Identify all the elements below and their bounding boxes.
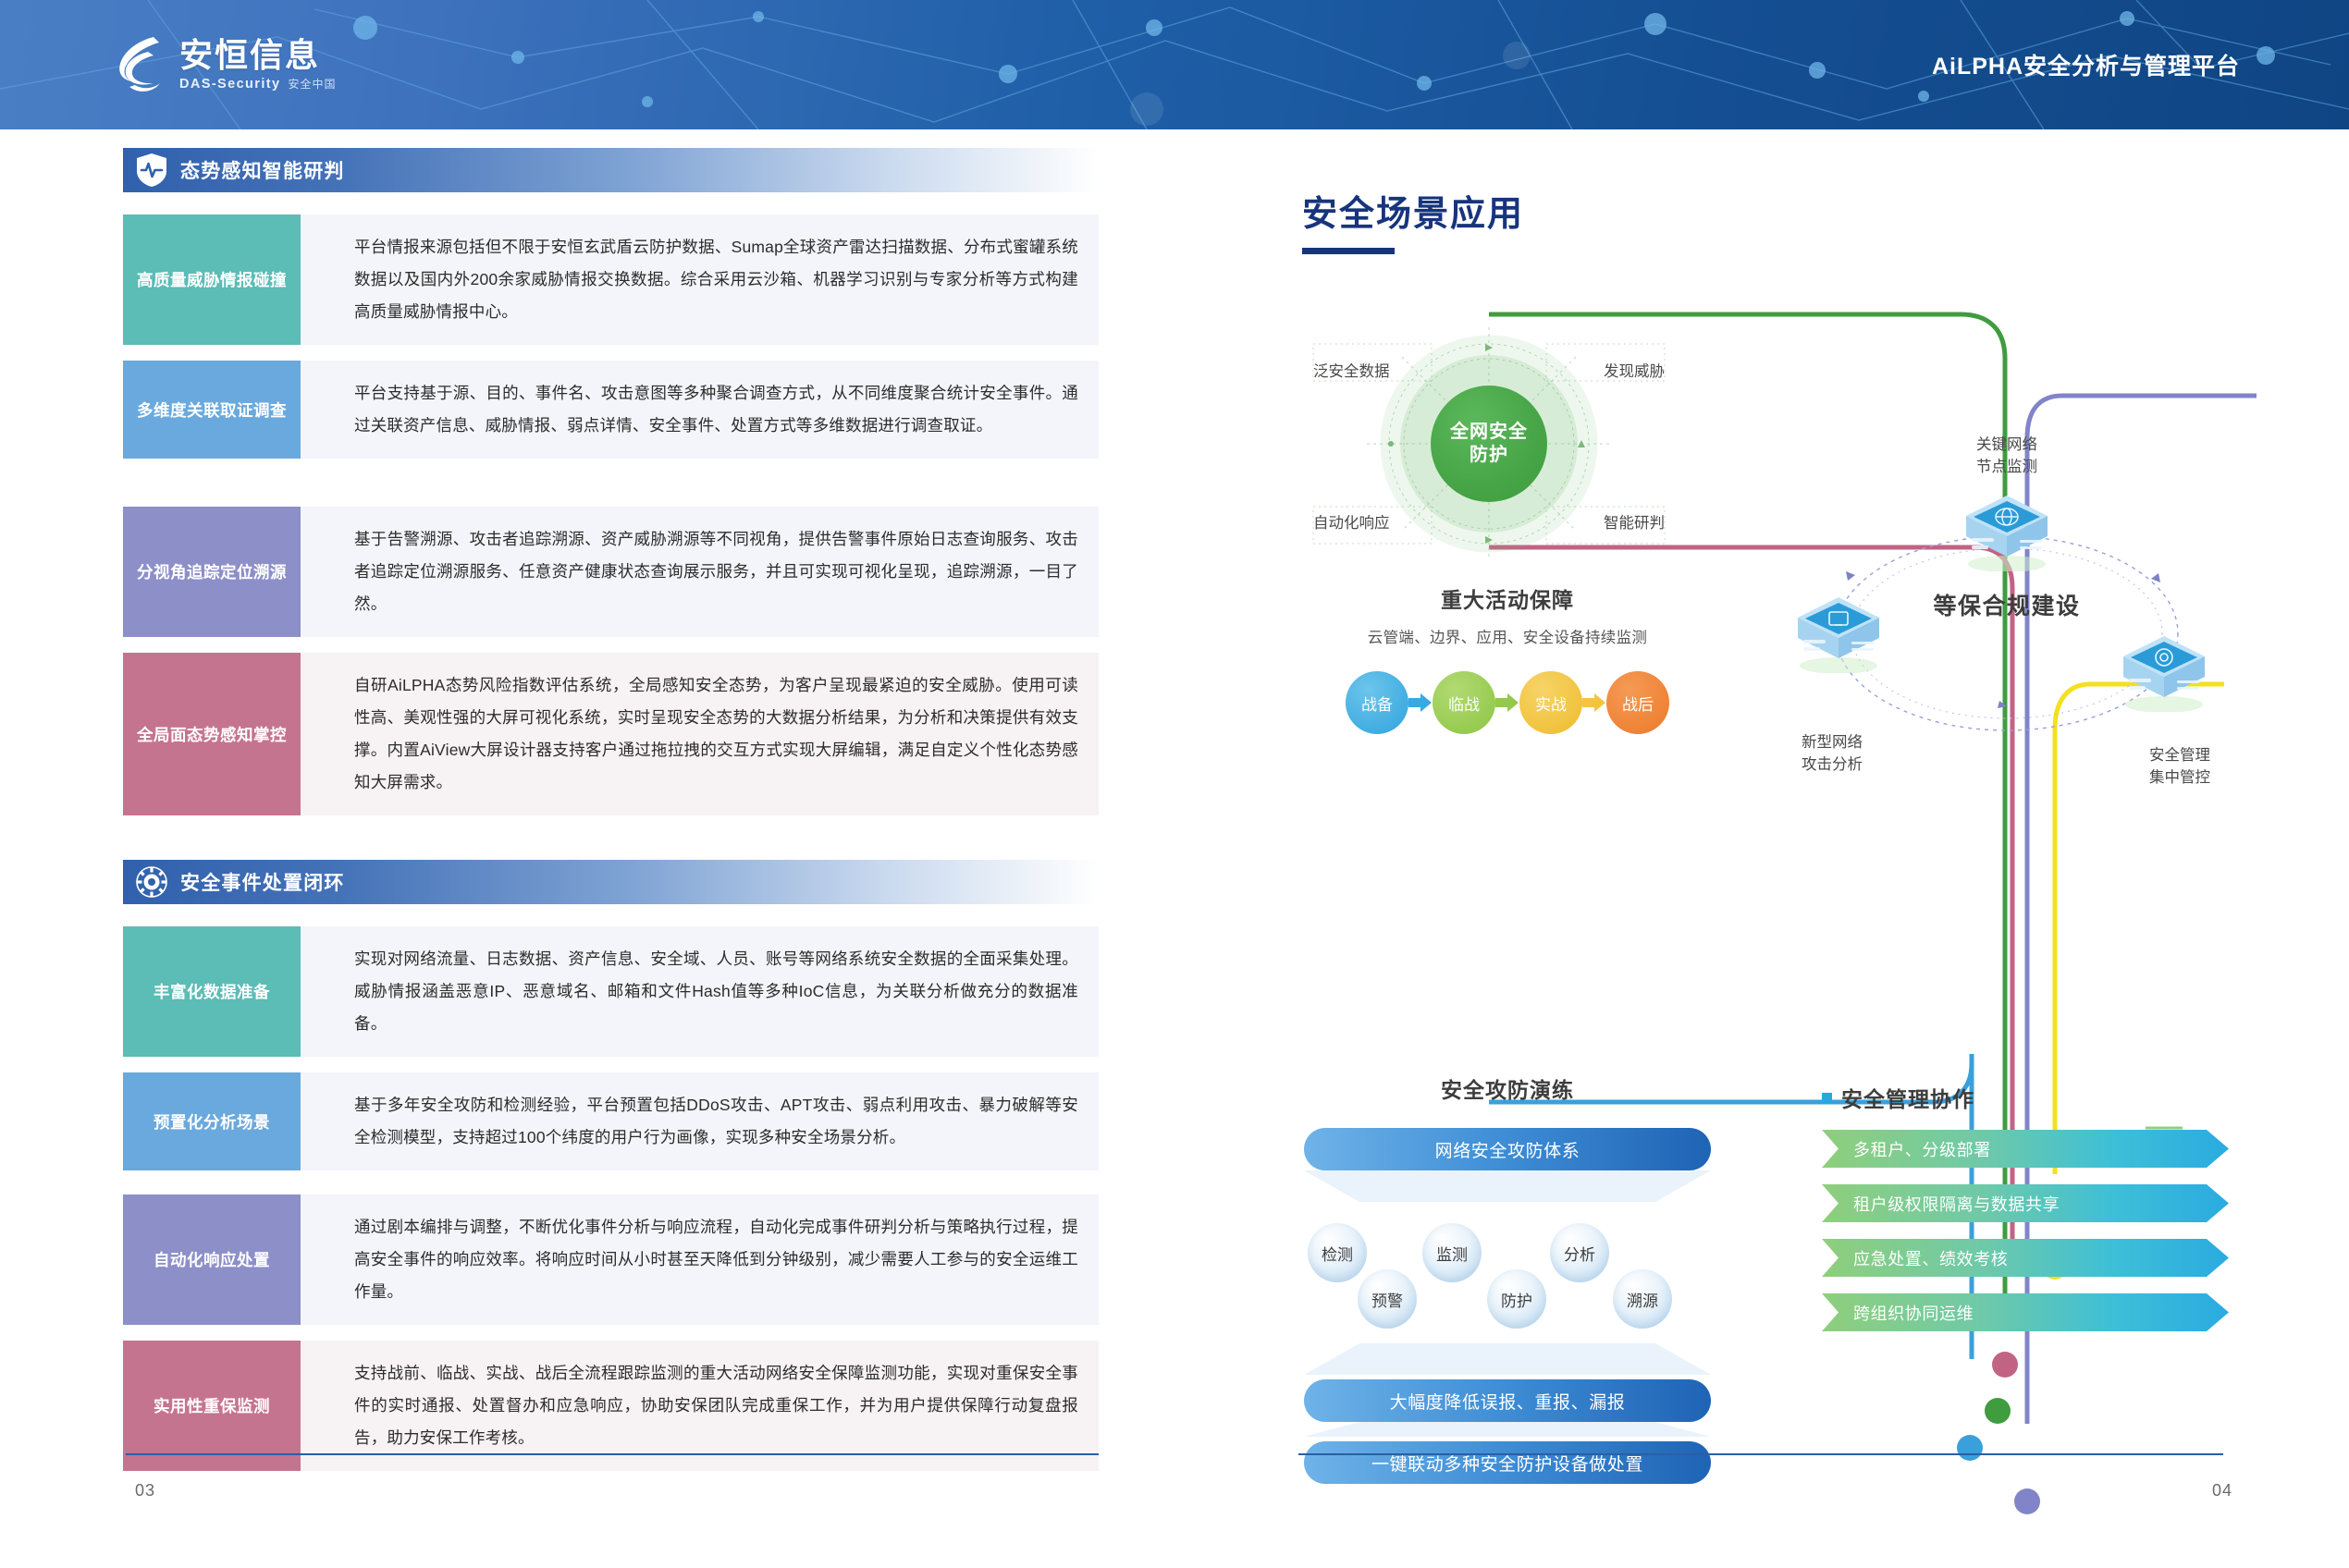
- page-header: 安恒信息 DAS-Security 安全中国 AiLPHA安全分析与管理平台: [0, 0, 2349, 129]
- arrow-right-icon: [1495, 692, 1519, 713]
- stage-circle: 临战: [1433, 671, 1495, 734]
- feature-description: 支持战前、临战、实战、战后全流程跟踪监测的重大活动网络安全保障监测功能，实现对重…: [354, 1357, 1078, 1454]
- stage-circle: 实战: [1519, 671, 1582, 734]
- drill-bubble: 监测: [1422, 1223, 1482, 1282]
- left-page: 态势感知智能研判 高质量威胁情报碰撞 平台情报来源包括但不限于安恒玄武盾云防护数…: [0, 129, 1174, 1568]
- drill-title: 安全攻防演练: [1304, 1072, 1711, 1104]
- collaboration-header: 安全管理协作: [1822, 1082, 2229, 1113]
- feature-description: 平台支持基于源、目的、事件名、攻击意图等多种聚合调查方式，从不同维度聚合统计安全…: [354, 377, 1078, 442]
- circle-label-bottom-left: 自动化响应: [1313, 510, 1390, 533]
- compliance-label-bl-line1: 新型网络: [1802, 732, 1863, 754]
- feature-tag-label: 预置化分析场景: [154, 1110, 270, 1133]
- right-page: 安全场景应用: [1174, 129, 2349, 1568]
- compliance-block: 关键网络 节点监测: [1785, 435, 2229, 786]
- drill-bubbles: 检测 预警 监测 防护 分析 溯源: [1304, 1223, 1711, 1343]
- compliance-label-br-line1: 安全管理: [2149, 745, 2210, 767]
- feature-tag-label: 全局面态势感知掌控: [137, 723, 287, 746]
- feature-tag: 预置化分析场景: [123, 1072, 301, 1170]
- core-circle: 全网安全 防护: [1431, 386, 1547, 502]
- collaboration-title: 安全管理协作: [1841, 1082, 1974, 1113]
- feature-tag: 自动化响应处置: [123, 1194, 301, 1325]
- feature-row: 自动化响应处置 通过剧本编排与调整，不断优化事件分析与响应流程，自动化完成事件研…: [123, 1194, 1099, 1325]
- section-banner-incident-closed-loop: 安全事件处置闭环: [123, 860, 1099, 904]
- major-activity-title: 重大活动保障: [1304, 582, 1711, 614]
- major-activity-block: 重大活动保障 云管端、边界、应用、安全设备持续监测 战备 临战 实战: [1304, 582, 1711, 767]
- compliance-label-top-line1: 关键网络: [1976, 435, 2037, 457]
- core-label-line1: 全网安全: [1450, 421, 1528, 444]
- feature-body: 平台支持基于源、目的、事件名、攻击意图等多种聚合调查方式，从不同维度聚合统计安全…: [301, 361, 1099, 459]
- collaboration-item: 应急处置、绩效考核: [1822, 1239, 2229, 1277]
- drill-bubble-label: 预警: [1371, 1288, 1403, 1311]
- monitor-server-icon: [1794, 594, 1883, 673]
- stage-label: 战后: [1622, 692, 1654, 715]
- drill-bubble: 检测: [1308, 1223, 1367, 1282]
- feature-row: 全局面态势感知掌控 自研AiLPHA态势风险指数评估系统，全局感知安全态势，为客…: [123, 653, 1099, 815]
- feature-tag-label: 高质量威胁情报碰撞: [137, 268, 287, 291]
- feature-description: 基于告警溯源、攻击者追踪溯源、资产威胁溯源等不同视角，提供告警事件原始日志查询服…: [354, 523, 1078, 620]
- compliance-label-bottom-left: 新型网络 攻击分析: [1802, 732, 1863, 777]
- stage-label: 战备: [1361, 692, 1393, 715]
- arrow-right-icon: [1582, 692, 1606, 713]
- feature-description: 通过剧本编排与调整，不断优化事件分析与响应流程，自动化完成事件研判分析与策略执行…: [354, 1211, 1078, 1308]
- feature-body: 基于多年安全攻防和检测经验，平台预置包括DDoS攻击、APT攻击、弱点利用攻击、…: [301, 1072, 1099, 1170]
- platform-title: AiLPHA安全分析与管理平台: [1932, 48, 2240, 81]
- shield-pulse-icon: [136, 153, 167, 188]
- drill-block: 安全攻防演练 网络安全攻防体系 检测 预警 监测 防护 分析 溯源: [1304, 1072, 1711, 1433]
- feature-tag: 丰富化数据准备: [123, 926, 301, 1057]
- square-bullet-icon: [1822, 1093, 1832, 1103]
- gear-server-icon: [2120, 632, 2208, 712]
- feature-body: 支持战前、临战、实战、战后全流程跟踪监测的重大活动网络安全保障监测功能，实现对重…: [301, 1341, 1099, 1471]
- circle-label-top-left: 泛安全数据: [1313, 359, 1390, 381]
- logo-company-name-en: DAS-Security: [179, 77, 280, 92]
- collaboration-item-label: 跨组织协同运维: [1853, 1301, 1974, 1325]
- stage-label: 实战: [1535, 692, 1567, 715]
- funnel-top-icon: [1304, 1170, 1711, 1202]
- stage-label: 临战: [1448, 692, 1480, 715]
- collaboration-block: 安全管理协作 多租户、分级部署 租户级权限隔离与数据共享 应急处置、绩效考核 跨…: [1822, 1082, 2229, 1387]
- stage-circle: 战后: [1606, 671, 1669, 734]
- feature-description: 实现对网络流量、日志数据、资产信息、安全域、人员、账号等网络系统安全数据的全面采…: [354, 943, 1078, 1040]
- feature-tag: 实用性重保监测: [123, 1341, 301, 1471]
- drill-bubble-label: 监测: [1436, 1242, 1468, 1265]
- drill-top-pill-label: 网络安全攻防体系: [1435, 1137, 1580, 1162]
- wire-endpoint-dot-blue: [1957, 1435, 1983, 1461]
- drill-bubble-label: 溯源: [1627, 1288, 1658, 1311]
- company-logo: 安恒信息 DAS-Security 安全中国: [111, 33, 336, 96]
- feature-tag-label: 丰富化数据准备: [154, 980, 270, 1003]
- feature-row: 预置化分析场景 基于多年安全攻防和检测经验，平台预置包括DDoS攻击、APT攻击…: [123, 1072, 1099, 1170]
- footer-rule-left: [126, 1453, 1099, 1455]
- arrow-right-icon: [1408, 692, 1433, 713]
- compliance-label-top: 关键网络 节点监测: [1976, 435, 2037, 479]
- feature-body: 实现对网络流量、日志数据、资产信息、安全域、人员、账号等网络系统安全数据的全面采…: [301, 926, 1099, 1057]
- compliance-label-br-line2: 集中管控: [2149, 767, 2210, 790]
- page-number-left: 03: [135, 1481, 155, 1501]
- core-label-line2: 防护: [1470, 444, 1508, 467]
- compliance-label-bottom-right: 安全管理 集中管控: [2149, 745, 2210, 790]
- feature-tag: 全局面态势感知掌控: [123, 653, 301, 815]
- feature-tag-label: 实用性重保监测: [154, 1394, 270, 1417]
- drill-bubble: 预警: [1358, 1269, 1417, 1329]
- drill-bubble-label: 检测: [1322, 1242, 1353, 1265]
- funnel-bottom-icon: [1304, 1343, 1711, 1375]
- wire-endpoint-dot-purple: [2014, 1488, 2040, 1514]
- drill-bubble: 防护: [1487, 1269, 1546, 1329]
- feature-tag: 高质量威胁情报碰撞: [123, 214, 301, 345]
- feature-body: 平台情报来源包括但不限于安恒玄武盾云防护数据、Sumap全球资产雷达扫描数据、分…: [301, 214, 1099, 345]
- feature-tag-label: 多维度关联取证调查: [137, 398, 287, 422]
- circle-label-top-right: 发现威胁: [1604, 359, 1665, 381]
- logo-company-name-cn: 安恒信息: [179, 38, 336, 73]
- feature-tag: 多维度关联取证调查: [123, 361, 301, 459]
- drill-bubble-label: 防护: [1501, 1288, 1532, 1311]
- funnel-spacer-icon: [1304, 1422, 1711, 1437]
- collaboration-item-label: 租户级权限隔离与数据共享: [1853, 1192, 2060, 1216]
- feature-body: 通过剧本编排与调整，不断优化事件分析与响应流程，自动化完成事件研判分析与策略执行…: [301, 1194, 1099, 1325]
- drill-bubble: 溯源: [1613, 1269, 1672, 1329]
- feature-row: 丰富化数据准备 实现对网络流量、日志数据、资产信息、安全域、人员、账号等网络系统…: [123, 926, 1099, 1057]
- section-banner-label: 态势感知智能研判: [180, 156, 345, 184]
- whole-network-protection-block: 全网安全 防护 泛安全数据 发现威胁 自动化响应 智能研判: [1304, 324, 1674, 564]
- feature-description: 平台情报来源包括但不限于安恒玄武盾云防护数据、Sumap全球资产雷达扫描数据、分…: [354, 231, 1078, 328]
- scene-diagram: 全网安全 防护 泛安全数据 发现威胁 自动化响应 智能研判 重大活动保障 云管端…: [1174, 129, 2349, 1568]
- drill-bubble: 分析: [1550, 1223, 1609, 1282]
- drill-top-pill: 网络安全攻防体系: [1304, 1128, 1711, 1170]
- drill-bottom-pill: 大幅度降低误报、重报、漏报: [1304, 1379, 1711, 1422]
- compliance-label-top-line2: 节点监测: [1976, 457, 2037, 479]
- feature-body: 自研AiLPHA态势风险指数评估系统，全局感知安全态势，为客户呈现最紧迫的安全威…: [301, 653, 1099, 815]
- feature-body: 基于告警溯源、攻击者追踪溯源、资产威胁溯源等不同视角，提供告警事件原始日志查询服…: [301, 507, 1099, 637]
- collaboration-item-label: 应急处置、绩效考核: [1853, 1246, 2008, 1270]
- feature-row: 分视角追踪定位溯源 基于告警溯源、攻击者追踪溯源、资产威胁溯源等不同视角，提供告…: [123, 507, 1099, 637]
- das-logo-icon: [111, 33, 168, 96]
- drill-bubble-label: 分析: [1564, 1242, 1595, 1265]
- compliance-label-bl-line2: 攻击分析: [1802, 754, 1863, 777]
- feature-row: 实用性重保监测 支持战前、临战、实战、战后全流程跟踪监测的重大活动网络安全保障监…: [123, 1341, 1099, 1471]
- gear-icon: [136, 864, 167, 900]
- logo-slogan: 安全中国: [288, 76, 336, 92]
- feature-row: 多维度关联取证调查 平台支持基于源、目的、事件名、攻击意图等多种聚合调查方式，从…: [123, 361, 1099, 459]
- collaboration-item: 多租户、分级部署: [1822, 1130, 2229, 1168]
- stage-circle: 战备: [1346, 671, 1408, 734]
- collaboration-item-label: 多租户、分级部署: [1853, 1137, 1991, 1161]
- wire-endpoint-dot-green: [1985, 1398, 2011, 1424]
- section-banner-situational-awareness: 态势感知智能研判: [123, 148, 1099, 192]
- section-banner-label: 安全事件处置闭环: [180, 868, 345, 896]
- feature-tag-label: 自动化响应处置: [154, 1248, 270, 1271]
- page-number-right: 04: [2212, 1481, 2232, 1501]
- stage-flow: 战备 临战 实战 战后: [1304, 671, 1711, 734]
- compliance-title: 等保合规建设: [1933, 588, 2080, 621]
- collaboration-item: 跨组织协同运维: [1822, 1293, 2229, 1331]
- collaboration-item: 租户级权限隔离与数据共享: [1822, 1184, 2229, 1222]
- drill-bottom-pill-label: 大幅度降低误报、重报、漏报: [1390, 1389, 1626, 1414]
- drill-bottom-pill: 一键联动多种安全防护设备做处置: [1304, 1441, 1711, 1484]
- major-activity-subtitle: 云管端、边界、应用、安全设备持续监测: [1304, 625, 1711, 647]
- footer-rule-right: [1298, 1453, 2223, 1455]
- feature-description: 基于多年安全攻防和检测经验，平台预置包括DDoS攻击、APT攻击、弱点利用攻击、…: [354, 1089, 1078, 1154]
- brochure-page: 安恒信息 DAS-Security 安全中国 AiLPHA安全分析与管理平台 态…: [0, 0, 2349, 1568]
- feature-tag: 分视角追踪定位溯源: [123, 507, 301, 637]
- feature-description: 自研AiLPHA态势风险指数评估系统，全局感知安全态势，为客户呈现最紧迫的安全威…: [354, 669, 1078, 799]
- feature-row: 高质量威胁情报碰撞 平台情报来源包括但不限于安恒玄武盾云防护数据、Sumap全球…: [123, 214, 1099, 345]
- feature-tag-label: 分视角追踪定位溯源: [137, 560, 287, 583]
- globe-server-icon: [1962, 492, 2051, 571]
- circle-label-bottom-right: 智能研判: [1604, 510, 1665, 533]
